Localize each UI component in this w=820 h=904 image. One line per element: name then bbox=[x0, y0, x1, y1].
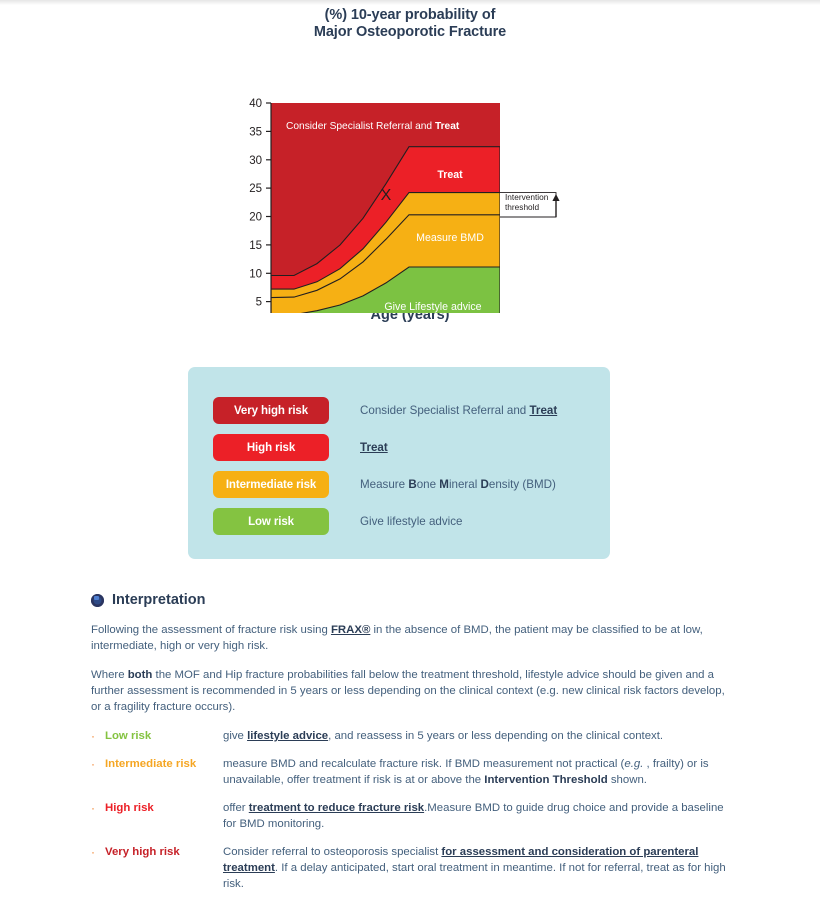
risk-legend-card: Very high risk Consider Specialist Refer… bbox=[188, 367, 610, 559]
chart-title: (%) 10-year probability of Major Osteopo… bbox=[0, 5, 820, 40]
intervention-threshold-callout: Intervention threshold bbox=[500, 192, 560, 217]
risk-name-low: Low risk bbox=[105, 728, 223, 744]
intervention-threshold-term: Intervention Threshold bbox=[484, 774, 607, 786]
legend-desc-im-e: ineral bbox=[449, 478, 481, 491]
risk-area-chart-svg: Consider Specialist Referral and Treat T… bbox=[0, 48, 820, 313]
y-axis-ticks bbox=[266, 103, 271, 313]
svg-text:5: 5 bbox=[256, 297, 262, 309]
risk-text-low-a: give bbox=[223, 730, 247, 742]
risk-text-low: give lifestyle advice, and reassess in 5… bbox=[223, 728, 736, 744]
svg-text:35: 35 bbox=[249, 126, 262, 138]
risk-text-vh-a: Consider referral to osteoporosis specia… bbox=[223, 846, 441, 858]
list-item-very-high-risk: · Very high risk Consider referral to os… bbox=[91, 844, 736, 892]
legend-desc-im-c: one bbox=[417, 478, 440, 491]
risk-guidance-list: · Low risk give lifestyle advice, and re… bbox=[91, 728, 736, 892]
info-circle-icon bbox=[91, 594, 104, 607]
risk-bands bbox=[271, 103, 500, 313]
legend-badge-low-risk[interactable]: Low risk bbox=[213, 508, 329, 535]
legend-desc-im-g: ensity (BMD) bbox=[489, 478, 556, 491]
patient-marker-x-icon: X bbox=[381, 187, 392, 204]
risk-text-high-a: offer bbox=[223, 802, 249, 814]
legend-desc-intermediate-risk: Measure Bone Mineral Density (BMD) bbox=[360, 478, 556, 491]
bullet-icon: · bbox=[91, 756, 105, 788]
svg-text:15: 15 bbox=[249, 240, 262, 252]
legend-desc-high-risk: Treat bbox=[360, 441, 388, 454]
legend-desc-im-a: Measure bbox=[360, 478, 408, 491]
legend-desc-im-d: M bbox=[439, 478, 449, 491]
legend-desc-very-high-text: Consider Specialist Referral and bbox=[360, 404, 529, 417]
y-axis-tick-labels: 40 35 30 25 20 15 10 5 0 bbox=[249, 98, 262, 313]
svg-text:20: 20 bbox=[249, 212, 262, 224]
frax-link[interactable]: FRAX® bbox=[331, 624, 370, 636]
interp-p1-a: Following the assessment of fracture ris… bbox=[91, 624, 331, 636]
lifestyle-advice-link[interactable]: lifestyle advice bbox=[247, 730, 328, 742]
interpretation-section: Interpretation Following the assessment … bbox=[91, 592, 736, 904]
risk-text-im-a: measure BMD and recalculate fracture ris… bbox=[223, 758, 624, 770]
legend-row-intermediate-risk: Intermediate risk Measure Bone Mineral D… bbox=[213, 471, 556, 498]
interpretation-heading: Interpretation bbox=[91, 592, 736, 608]
interp-p2-bold: both bbox=[128, 669, 153, 681]
legend-desc-low-risk: Give lifestyle advice bbox=[360, 515, 462, 528]
risk-text-im-italic: e.g. bbox=[624, 758, 643, 770]
threshold-note-line1: Intervention bbox=[505, 192, 549, 202]
legend-link-treat-very-high[interactable]: Treat bbox=[529, 404, 557, 417]
list-item-low-risk: · Low risk give lifestyle advice, and re… bbox=[91, 728, 736, 744]
treatment-to-reduce-fracture-risk-link[interactable]: treatment to reduce fracture risk bbox=[249, 802, 424, 814]
svg-text:25: 25 bbox=[249, 183, 262, 195]
interp-p2-a: Where bbox=[91, 669, 128, 681]
svg-text:30: 30 bbox=[249, 155, 262, 167]
legend-row-high-risk: High risk Treat bbox=[213, 434, 388, 461]
threshold-arrow-head-icon bbox=[552, 194, 559, 201]
bullet-icon: · bbox=[91, 728, 105, 744]
svg-text:10: 10 bbox=[249, 268, 262, 280]
risk-name-very-high: Very high risk bbox=[105, 844, 223, 892]
interpretation-heading-text: Interpretation bbox=[112, 592, 205, 608]
risk-text-high: offer treatment to reduce fracture risk.… bbox=[223, 800, 736, 832]
chart-block: (%) 10-year probability of Major Osteopo… bbox=[0, 5, 820, 323]
legend-badge-intermediate-risk[interactable]: Intermediate risk bbox=[213, 471, 329, 498]
legend-link-treat-high[interactable]: Treat bbox=[360, 441, 388, 454]
legend-badge-high-risk[interactable]: High risk bbox=[213, 434, 329, 461]
band-label-very-high: Consider Specialist Referral and Treat bbox=[286, 121, 460, 132]
risk-name-intermediate: Intermediate risk bbox=[105, 756, 223, 788]
risk-text-intermediate: measure BMD and recalculate fracture ris… bbox=[223, 756, 736, 788]
risk-text-very-high: Consider referral to osteoporosis specia… bbox=[223, 844, 736, 892]
interpretation-paragraph-2: Where both the MOF and Hip fracture prob… bbox=[91, 667, 736, 715]
band-label-intermediate: Measure BMD bbox=[416, 232, 484, 244]
list-item-intermediate-risk: · Intermediate risk measure BMD and reca… bbox=[91, 756, 736, 788]
legend-desc-very-high-risk: Consider Specialist Referral and Treat bbox=[360, 404, 557, 417]
svg-text:40: 40 bbox=[249, 98, 262, 110]
legend-row-very-high-risk: Very high risk Consider Specialist Refer… bbox=[213, 397, 557, 424]
legend-badge-very-high-risk[interactable]: Very high risk bbox=[213, 397, 329, 424]
bullet-icon: · bbox=[91, 800, 105, 832]
risk-text-im-c: shown. bbox=[608, 774, 647, 786]
band-label-low: Give Lifestyle advice bbox=[384, 301, 481, 313]
chart-title-line2: Major Osteoporotic Fracture bbox=[0, 24, 820, 41]
legend-desc-im-f: D bbox=[481, 478, 489, 491]
interpretation-paragraph-1: Following the assessment of fracture ris… bbox=[91, 622, 736, 654]
threshold-note-line2: threshold bbox=[505, 202, 540, 212]
list-item-high-risk: · High risk offer treatment to reduce fr… bbox=[91, 800, 736, 832]
legend-row-low-risk: Low risk Give lifestyle advice bbox=[213, 508, 462, 535]
fracture-risk-plot: Consider Specialist Referral and Treat T… bbox=[0, 48, 820, 313]
bullet-icon: · bbox=[91, 844, 105, 892]
chart-title-line1: (%) 10-year probability of bbox=[0, 7, 820, 24]
legend-desc-im-b: B bbox=[408, 478, 416, 491]
risk-text-low-b: , and reassess in 5 years or less depend… bbox=[328, 730, 663, 742]
band-label-high: Treat bbox=[437, 169, 463, 181]
risk-name-high: High risk bbox=[105, 800, 223, 832]
risk-text-vh-b: . If a delay anticipated, start oral tre… bbox=[223, 862, 726, 890]
interp-p2-b: the MOF and Hip fracture probabilities f… bbox=[91, 669, 725, 713]
